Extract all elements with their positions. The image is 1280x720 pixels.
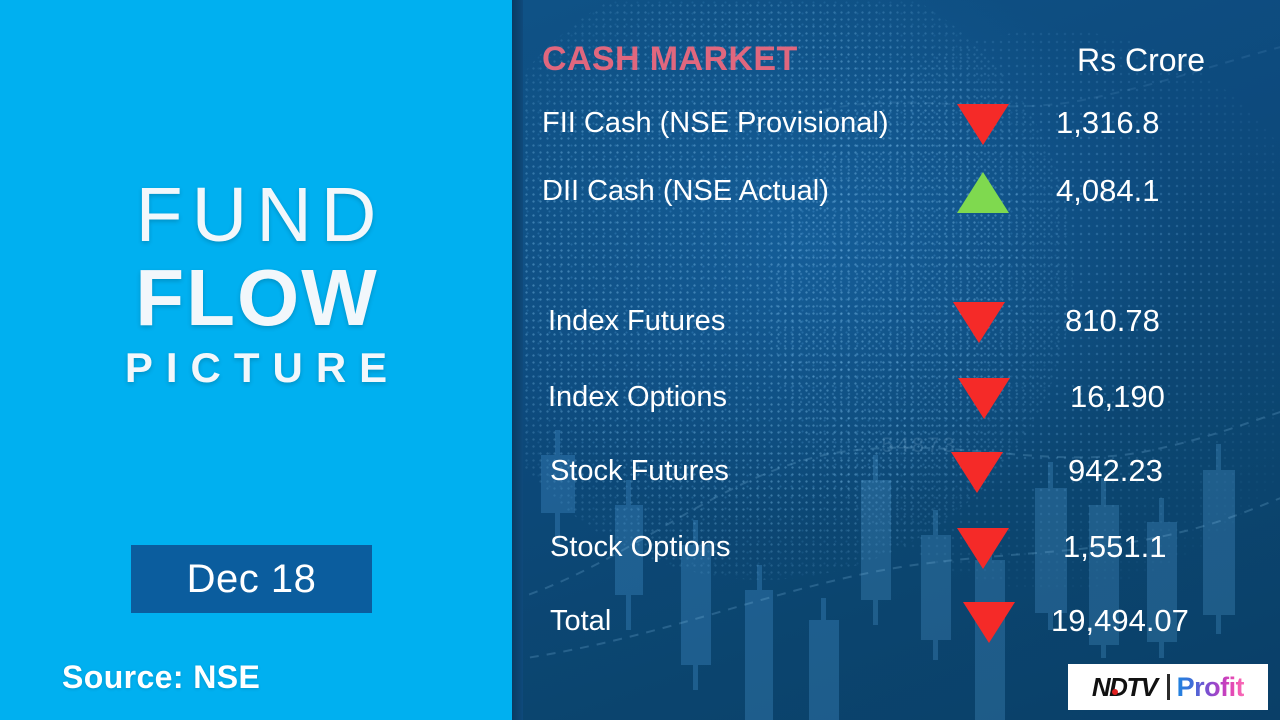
data-panel: 54873 CASH MARKET Rs Crore FII Cash (NSE…	[523, 0, 1280, 720]
row-label: Index Options	[548, 376, 727, 418]
brand-line-picture: PICTURE	[0, 345, 512, 390]
ndtv-red-dot-icon	[1112, 689, 1118, 695]
table-row: Index Futures 810.78	[523, 300, 1280, 348]
ndtv-profit-logo: NDTV Profit	[1068, 664, 1268, 710]
row-value: 942.23	[1068, 450, 1163, 492]
source-label: Source: NSE	[62, 659, 260, 696]
row-label: Total	[550, 600, 611, 642]
triangle-up-icon	[957, 172, 1009, 213]
table-row: Stock Options 1,551.1	[523, 526, 1280, 574]
row-label: Stock Options	[550, 526, 731, 568]
section-header-cash-market: CASH MARKET	[542, 40, 798, 79]
date-badge-label: Dec 18	[187, 557, 317, 602]
ndtv-wordmark: NDTV	[1092, 672, 1160, 703]
fund-flow-graphic: FUND FLOW PICTURE Dec 18 Source: NSE	[0, 0, 1280, 720]
unit-label: Rs Crore	[1021, 42, 1261, 79]
triangle-down-icon	[963, 602, 1015, 643]
triangle-down-icon	[957, 104, 1009, 145]
row-value: 16,190	[1070, 376, 1165, 418]
row-value: 4,084.1	[1056, 170, 1159, 212]
row-value: 1,316.8	[1056, 102, 1159, 144]
triangle-down-icon	[953, 302, 1005, 343]
row-value: 810.78	[1065, 300, 1160, 342]
table-row: Total 19,494.07	[523, 600, 1280, 648]
profit-wordmark: Profit	[1177, 672, 1245, 703]
table-row: Index Options 16,190	[523, 376, 1280, 424]
row-value: 1,551.1	[1063, 526, 1166, 568]
fund-flow-rows: CASH MARKET Rs Crore FII Cash (NSE Provi…	[523, 0, 1280, 720]
left-branding-panel: FUND FLOW PICTURE Dec 18 Source: NSE	[0, 0, 512, 720]
brand-line-fund: FUND	[0, 178, 512, 253]
logo-divider-icon	[1167, 674, 1170, 700]
triangle-down-icon	[957, 528, 1009, 569]
table-row: DII Cash (NSE Actual) 4,084.1	[523, 170, 1280, 218]
row-label: FII Cash (NSE Provisional)	[542, 102, 889, 144]
table-row: FII Cash (NSE Provisional) 1,316.8	[523, 102, 1280, 150]
ndtv-text: NDTV	[1092, 672, 1157, 702]
triangle-down-icon	[958, 378, 1010, 419]
row-value: 19,494.07	[1051, 600, 1189, 642]
row-label: Index Futures	[548, 300, 725, 342]
brand-title: FUND FLOW PICTURE	[0, 178, 512, 390]
triangle-down-icon	[951, 452, 1003, 493]
panel-divider	[512, 0, 523, 720]
row-label: Stock Futures	[550, 450, 729, 492]
date-badge: Dec 18	[131, 545, 372, 613]
brand-line-flow: FLOW	[0, 257, 512, 339]
row-label: DII Cash (NSE Actual)	[542, 170, 829, 212]
table-row: Stock Futures 942.23	[523, 450, 1280, 498]
